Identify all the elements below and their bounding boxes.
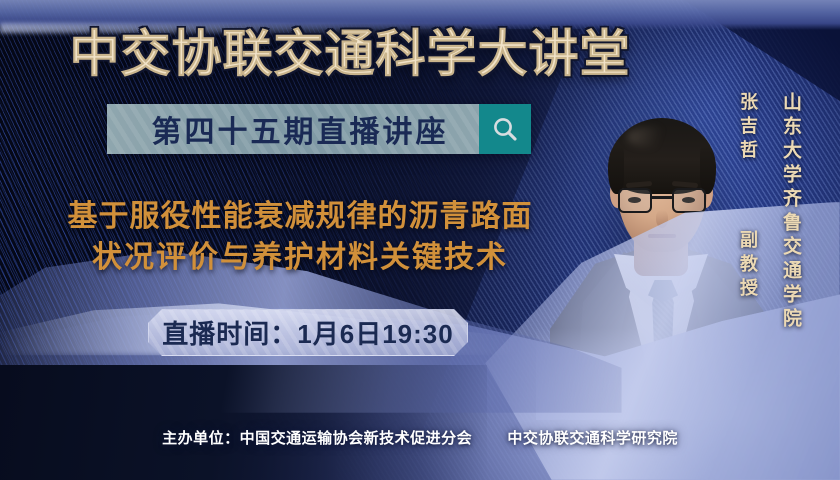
speaker-affiliation: 山东大学齐鲁交通学院 (777, 92, 804, 332)
episode-banner: 第四十五期直播讲座 (107, 104, 531, 154)
footer-co-organizer: 中交协联交通科学研究院 (507, 430, 678, 447)
speaker-info-vertical: 张吉哲 副教授 山东大学齐鲁交通学院 (735, 92, 804, 332)
speaker-name: 张吉哲 (738, 92, 758, 164)
lecture-title: 基于服役性能衰减规律的沥青路面 状况评价与养护材料关键技术 (10, 196, 590, 279)
lecture-title-line-2: 状况评价与养护材料关键技术 (10, 237, 590, 278)
speaker-name-and-title: 张吉哲 副教授 (735, 92, 761, 302)
footer-organizers: 主办单位：中国交通运输协会新技术促进分会 中交协联交通科学研究院 (0, 427, 840, 448)
broadcast-time-text: 直播时间：1月6日19:30 (162, 314, 453, 351)
search-icon[interactable] (479, 104, 531, 154)
portrait-hair-side-left (608, 146, 624, 194)
page-title: 中交协联交通科学大讲堂 (0, 14, 700, 86)
episode-banner-label: 第四十五期直播讲座 (107, 104, 479, 154)
portrait-hair-side-right (700, 146, 716, 194)
portrait-eyeglasses-bridge (652, 196, 672, 199)
footer-organizer: 主办单位：中国交通运输协会新技术促进分会 (162, 430, 472, 447)
lecture-title-line-1: 基于服役性能衰减规律的沥青路面 (10, 196, 590, 237)
broadcast-time-badge: 直播时间：1月6日19:30 (148, 309, 468, 356)
portrait-eyeglasses-lens-right (672, 188, 706, 213)
portrait-eyeglasses-lens-left (618, 188, 652, 213)
silk-dark-underlayer (0, 365, 487, 480)
speaker-academic-title: 副教授 (738, 230, 758, 302)
live-lecture-poster: 中交协联交通科学大讲堂 第四十五期直播讲座 基于服役性能衰减规律的沥青路面 状况… (0, 0, 840, 480)
